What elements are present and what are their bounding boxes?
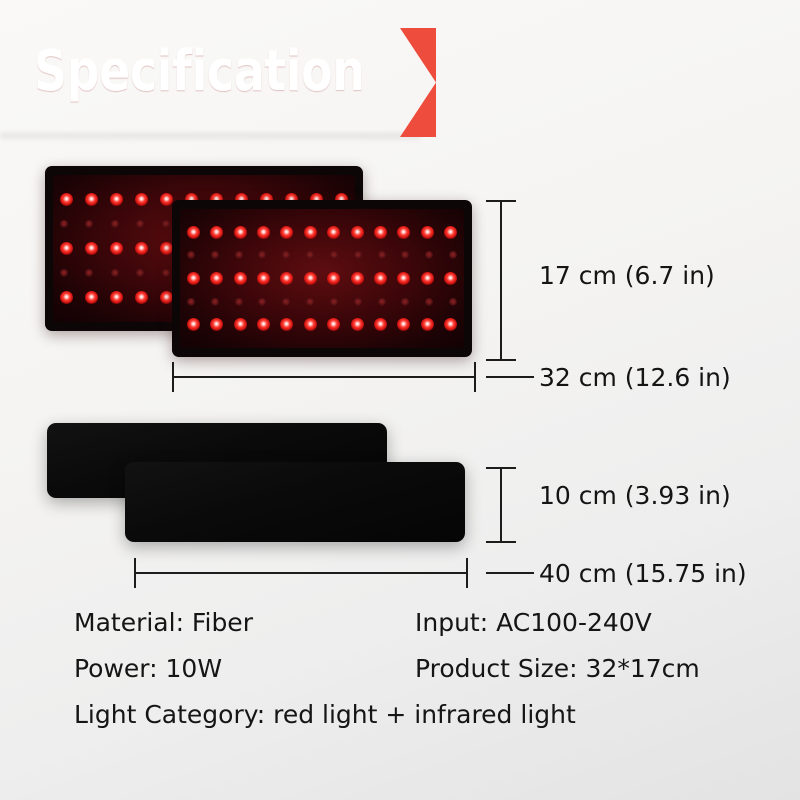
led-row-bright [187, 318, 457, 331]
spec-input: Input: AC100-240V [415, 608, 652, 637]
led-bright [210, 226, 223, 239]
led-bright [280, 226, 293, 239]
spec-light-category: Light Category: red light + infrared lig… [74, 700, 576, 729]
led-row-infrared [187, 251, 457, 259]
led-bright [110, 193, 123, 206]
led-infrared [378, 251, 386, 259]
led-bright [374, 226, 387, 239]
panel-height-label: 17 cm (6.7 in) [539, 261, 715, 290]
led-bright [304, 272, 317, 285]
specification-list: Material: Fiber Input: AC100-240V Power:… [0, 608, 800, 746]
led-infrared [306, 251, 314, 259]
led-infrared [187, 298, 195, 306]
led-infrared [60, 269, 68, 277]
led-row-bright [187, 226, 457, 239]
spec-row: Material: Fiber Input: AC100-240V [0, 608, 800, 654]
panel-height-dimension-line [500, 201, 502, 361]
led-board [180, 209, 464, 348]
led-infrared [330, 251, 338, 259]
mat-width-cap-right [466, 558, 468, 588]
led-bright [257, 272, 270, 285]
led-bright [85, 291, 98, 304]
led-infrared [449, 298, 457, 306]
led-bright [444, 318, 457, 331]
led-bright [160, 193, 173, 206]
led-bright [327, 272, 340, 285]
led-bright [135, 193, 148, 206]
led-bright [280, 318, 293, 331]
led-infrared [85, 269, 93, 277]
led-infrared [401, 298, 409, 306]
led-bright [60, 242, 73, 255]
mat-height-dimension-line [500, 468, 502, 543]
led-bright [257, 226, 270, 239]
led-infrared [282, 298, 290, 306]
led-bright [234, 318, 247, 331]
led-infrared [111, 220, 119, 228]
led-bright [444, 226, 457, 239]
led-bright [351, 318, 364, 331]
led-infrared [258, 251, 266, 259]
led-infrared [85, 220, 93, 228]
led-infrared [401, 251, 409, 259]
led-infrared [235, 251, 243, 259]
led-bright [444, 272, 457, 285]
panel-width-leader-line [486, 376, 534, 378]
led-infrared [211, 298, 219, 306]
led-bright [110, 291, 123, 304]
led-infrared [60, 220, 68, 228]
led-infrared [162, 269, 170, 277]
mat-front [125, 462, 465, 542]
led-bright [110, 242, 123, 255]
led-infrared [306, 298, 314, 306]
led-bright [60, 193, 73, 206]
led-infrared [282, 251, 290, 259]
led-infrared [378, 298, 386, 306]
mat-width-leader-line [486, 572, 534, 574]
led-bright [210, 318, 223, 331]
led-bright [210, 272, 223, 285]
led-bright [304, 318, 317, 331]
led-bright [187, 318, 200, 331]
ribbon-shadow [0, 133, 420, 142]
led-infrared [425, 298, 433, 306]
spec-material: Material: Fiber [74, 608, 253, 637]
spec-product-size: Product Size: 32*17cm [415, 654, 700, 683]
led-bright [351, 226, 364, 239]
mat-height-cap-top [486, 467, 516, 469]
led-infrared [354, 298, 362, 306]
led-bright [187, 272, 200, 285]
page-title: Specification [34, 40, 365, 104]
led-bright [374, 272, 387, 285]
led-bright [304, 226, 317, 239]
led-infrared [136, 269, 144, 277]
led-bright [135, 291, 148, 304]
spec-row: Power: 10W Product Size: 32*17cm [0, 654, 800, 700]
led-row-infrared [187, 298, 457, 306]
panel-width-dimension-line [172, 376, 475, 378]
mat-width-cap-left [134, 558, 136, 588]
led-bright [234, 272, 247, 285]
led-bright [280, 272, 293, 285]
led-panel-front [172, 200, 472, 357]
led-bright [187, 226, 200, 239]
panel-width-cap-left [172, 362, 174, 392]
led-bright [351, 272, 364, 285]
led-row-bright [187, 272, 457, 285]
led-infrared [449, 251, 457, 259]
led-infrared [162, 220, 170, 228]
panel-height-cap-top [486, 200, 516, 202]
led-bright [327, 226, 340, 239]
led-bright [421, 318, 434, 331]
led-bright [135, 242, 148, 255]
led-bright [85, 193, 98, 206]
mat-width-label: 40 cm (15.75 in) [539, 559, 747, 588]
panel-width-label: 32 cm (12.6 in) [539, 363, 731, 392]
led-infrared [425, 251, 433, 259]
led-bright [374, 318, 387, 331]
mat-height-label: 10 cm (3.93 in) [539, 481, 731, 510]
led-bright [397, 272, 410, 285]
led-infrared [258, 298, 266, 306]
led-bright [60, 291, 73, 304]
spec-power: Power: 10W [74, 654, 222, 683]
led-bright [421, 272, 434, 285]
led-bright [85, 242, 98, 255]
spec-row: Light Category: red light + infrared lig… [0, 700, 800, 746]
specification-page: Specification [0, 0, 800, 800]
led-bright [397, 226, 410, 239]
led-infrared [187, 251, 195, 259]
led-bright [257, 318, 270, 331]
mat-height-cap-bottom [486, 541, 516, 543]
led-infrared [136, 220, 144, 228]
led-bright [421, 226, 434, 239]
led-infrared [211, 251, 219, 259]
led-bright [234, 226, 247, 239]
led-infrared [111, 269, 119, 277]
led-bright [327, 318, 340, 331]
led-infrared [235, 298, 243, 306]
led-infrared [354, 251, 362, 259]
mat-width-dimension-line [134, 572, 468, 574]
panel-width-cap-right [474, 362, 476, 392]
led-infrared [330, 298, 338, 306]
led-bright [397, 318, 410, 331]
panel-height-cap-bottom [486, 359, 516, 361]
